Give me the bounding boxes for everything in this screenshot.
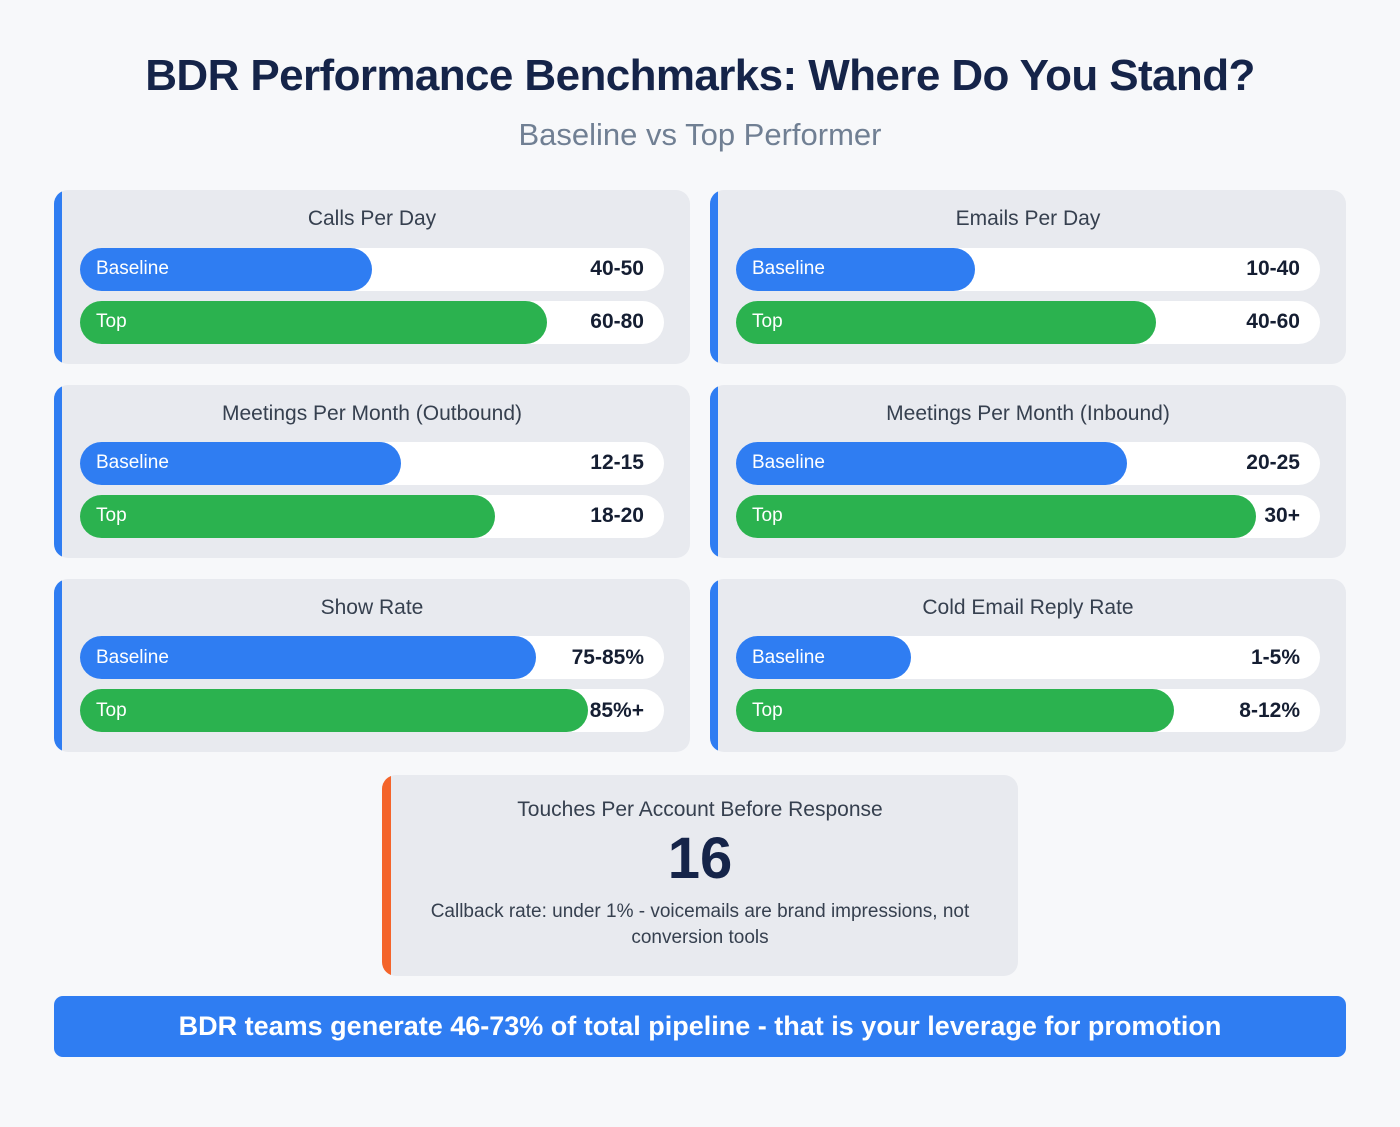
bar-value: 85%+ [590,699,644,723]
bar-track: Baseline20-25 [736,442,1320,485]
bar-track: Top30+ [736,495,1320,538]
metric-card: Calls Per DayBaseline40-50Top60-80 [54,190,690,363]
bar-label: Top [752,700,783,722]
page-title: BDR Performance Benchmarks: Where Do You… [0,52,1400,100]
bar-track: Top18-20 [80,495,664,538]
bar-label: Baseline [752,452,825,474]
bar-value: 40-50 [590,257,644,281]
bar-track: Baseline40-50 [80,248,664,291]
bar-track: Baseline75-85% [80,636,664,679]
metric-card: Show RateBaseline75-85%Top85%+ [54,579,690,752]
accent-bar-icon [710,579,718,752]
highlight-card: Touches Per Account Before Response 16 C… [382,775,1018,976]
header: BDR Performance Benchmarks: Where Do You… [0,0,1400,152]
bar-label: Baseline [752,647,825,669]
footer-section: BDR teams generate 46-73% of total pipel… [0,996,1400,1056]
bar-fill-baseline: Baseline [736,636,911,679]
bar-value: 10-40 [1246,257,1300,281]
bar-label: Top [752,505,783,527]
metric-card-title: Calls Per Day [80,206,664,231]
metric-card-title: Cold Email Reply Rate [736,595,1320,620]
bar-label: Baseline [752,258,825,280]
page-subtitle: Baseline vs Top Performer [0,118,1400,152]
bar-value: 12-15 [590,451,644,475]
bar-fill-baseline: Baseline [736,248,975,291]
bar-label: Baseline [96,258,169,280]
bar-value: 40-60 [1246,310,1300,334]
bar-fill-baseline: Baseline [80,636,536,679]
metric-card: Meetings Per Month (Outbound)Baseline12-… [54,385,690,558]
metric-card: Cold Email Reply RateBaseline1-5%Top8-12… [710,579,1346,752]
bar-track: Top40-60 [736,301,1320,344]
bar-fill-baseline: Baseline [80,248,372,291]
metric-card: Meetings Per Month (Inbound)Baseline20-2… [710,385,1346,558]
bar-label: Top [96,505,127,527]
metric-card-title: Show Rate [80,595,664,620]
bar-value: 60-80 [590,310,644,334]
accent-bar-icon [54,190,62,363]
bar-value: 30+ [1264,504,1300,528]
bar-fill-top: Top [736,495,1256,538]
bar-value: 20-25 [1246,451,1300,475]
metric-card-title: Meetings Per Month (Inbound) [736,401,1320,426]
accent-bar-icon [382,775,391,976]
accent-bar-icon [710,190,718,363]
bar-track: Top8-12% [736,689,1320,732]
bar-label: Baseline [96,452,169,474]
footer-banner: BDR teams generate 46-73% of total pipel… [54,996,1346,1056]
metric-card-title: Emails Per Day [736,206,1320,231]
metric-card-title: Meetings Per Month (Outbound) [80,401,664,426]
bar-value: 75-85% [572,646,644,670]
bar-track: Baseline12-15 [80,442,664,485]
highlight-card-note: Callback rate: under 1% - voicemails are… [422,899,978,950]
bar-value: 1-5% [1251,646,1300,670]
accent-bar-icon [54,579,62,752]
highlight-card-title: Touches Per Account Before Response [422,797,978,822]
accent-bar-icon [710,385,718,558]
bar-fill-top: Top [80,301,547,344]
bar-label: Top [96,700,127,722]
bar-fill-top: Top [736,301,1156,344]
highlight-card-number: 16 [422,826,978,893]
bar-fill-top: Top [80,495,495,538]
bar-label: Top [96,311,127,333]
bar-fill-baseline: Baseline [736,442,1127,485]
bar-track: Baseline1-5% [736,636,1320,679]
bar-track: Top85%+ [80,689,664,732]
accent-bar-icon [54,385,62,558]
bar-label: Top [752,311,783,333]
metric-card: Emails Per DayBaseline10-40Top40-60 [710,190,1346,363]
bar-value: 18-20 [590,504,644,528]
infographic-page: BDR Performance Benchmarks: Where Do You… [0,0,1400,1127]
bar-value: 8-12% [1239,699,1300,723]
bar-fill-baseline: Baseline [80,442,401,485]
bar-fill-top: Top [80,689,588,732]
bar-label: Baseline [96,647,169,669]
bar-track: Top60-80 [80,301,664,344]
bar-track: Baseline10-40 [736,248,1320,291]
highlight-section: Touches Per Account Before Response 16 C… [0,775,1400,976]
metric-cards-grid: Calls Per DayBaseline40-50Top60-80Emails… [54,190,1346,752]
bar-fill-top: Top [736,689,1174,732]
